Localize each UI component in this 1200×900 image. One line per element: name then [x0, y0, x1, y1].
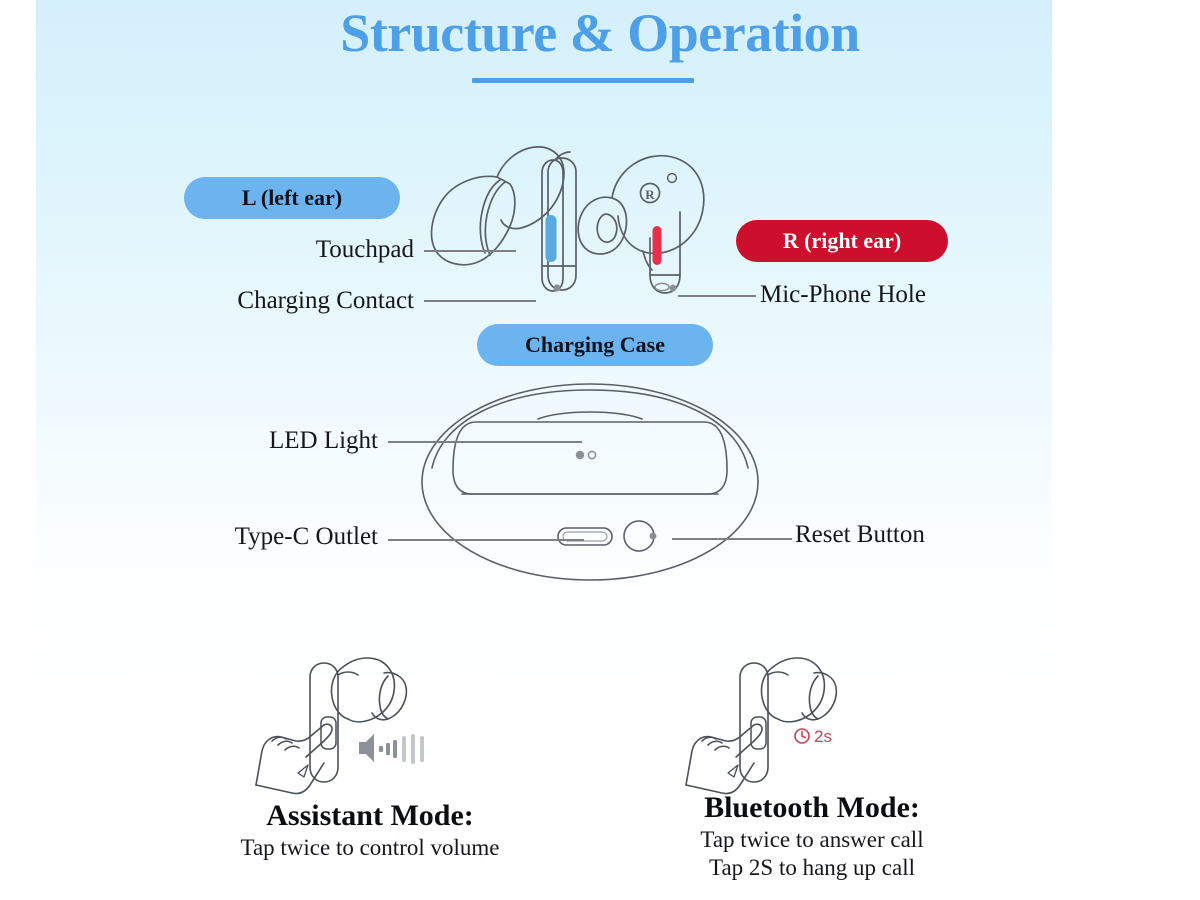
callout-label-reset-button: Reset Button — [795, 521, 925, 549]
clock-icon — [793, 727, 811, 745]
page-header: Structure & Operation — [0, 2, 1200, 64]
bluetooth-mode-line-2: Tap 2S to hang up call — [632, 854, 992, 882]
hand-outline-top — [256, 725, 324, 785]
timer-duration-text: 2s — [814, 728, 832, 745]
page-title: Structure & Operation — [0, 2, 1200, 64]
infographic-page: Structure & Operation — [0, 0, 1200, 900]
case-lid-notch — [538, 412, 642, 419]
mic-hole-opening — [655, 283, 669, 290]
callout-label-led-light: LED Light — [150, 427, 378, 455]
badge-right-ear: R (right ear) — [736, 220, 948, 262]
assistant-mode-illustration — [248, 645, 448, 795]
reset-button-circle — [624, 521, 654, 551]
bluetooth-mode-block: Bluetooth Mode: Tap twice to answer call… — [632, 790, 992, 882]
type-c-port — [558, 528, 612, 545]
bluetooth-mode-title: Bluetooth Mode: — [632, 790, 992, 826]
leader-line-type-c-outlet — [388, 539, 584, 541]
callout-label-charging-contact: Charging Contact — [150, 287, 414, 315]
callout-label-mic-phone-hole: Mic-Phone Hole — [760, 281, 926, 309]
assistant-mode-title: Assistant Mode: — [190, 798, 550, 834]
bluetooth-mode-illustration — [678, 645, 878, 795]
led-light-dot — [576, 451, 584, 459]
callout-label-type-c-outlet: Type-C Outlet — [150, 523, 378, 551]
case-lid-seam — [432, 390, 748, 468]
bluetooth-mode-line-1: Tap twice to answer call — [632, 826, 992, 854]
tap-target-touchpad — [751, 717, 766, 749]
leader-line-touchpad — [424, 250, 516, 252]
tap-target-touchpad — [321, 717, 336, 749]
left-touchpad-indicator — [546, 215, 557, 262]
assistant-mode-block: Assistant Mode: Tap twice to control vol… — [190, 798, 550, 862]
right-touchpad-indicator — [653, 226, 662, 265]
leader-line-led-light — [388, 441, 582, 443]
callout-label-touchpad: Touchpad — [180, 236, 414, 264]
leader-line-reset-button — [672, 538, 792, 540]
reset-button-dot — [650, 533, 657, 540]
trademark-letter: R — [645, 187, 655, 202]
charging-case-illustration — [400, 360, 780, 600]
sensor-dot — [668, 174, 677, 183]
badge-left-ear: L (left ear) — [184, 177, 400, 219]
charging-contact-dot — [553, 284, 560, 291]
timer-badge: 2s — [793, 727, 832, 745]
leader-line-mic-phone-hole — [678, 295, 756, 297]
leader-line-charging-contact — [424, 300, 536, 302]
earbuds-illustration: R — [400, 120, 760, 320]
assistant-mode-line-1: Tap twice to control volume — [190, 834, 550, 862]
mic-hole-dot — [670, 285, 677, 292]
badge-charging-case: Charging Case — [477, 324, 713, 366]
led-light-ring — [588, 451, 595, 458]
volume-icon — [357, 731, 429, 765]
case-outer-shell — [422, 384, 758, 580]
title-underline — [472, 78, 694, 83]
